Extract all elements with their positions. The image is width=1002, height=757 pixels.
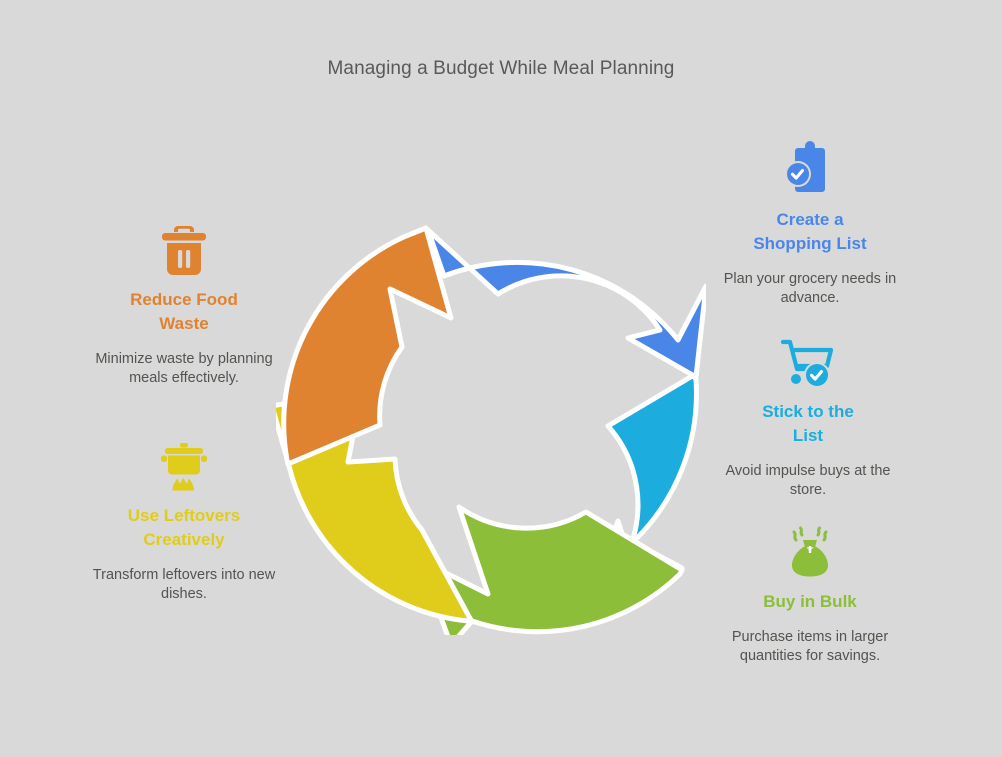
step-title: Create a Shopping List xyxy=(710,208,910,256)
step-title-line2: List xyxy=(793,426,823,445)
clipboard-check-icon xyxy=(710,134,910,196)
step-description: Avoid impulse buys at the store. xyxy=(708,462,908,499)
step-title-line1: Buy in Bulk xyxy=(763,592,857,611)
cycle-segment-reduce-food-waste xyxy=(284,228,451,464)
step-title: Reduce Food Waste xyxy=(84,288,284,336)
cycle-diagram xyxy=(276,190,706,640)
step-title-line1: Stick to the xyxy=(762,402,854,421)
step-description: Minimize waste by planning meals effecti… xyxy=(84,350,284,387)
step-title-line1: Use Leftovers xyxy=(128,506,240,525)
step-title: Stick to the List xyxy=(708,400,908,448)
step-buy-in-bulk: Buy in Bulk Purchase items in larger qua… xyxy=(710,516,910,665)
step-create-shopping-list: Create a Shopping List Plan your grocery… xyxy=(710,134,910,307)
step-use-leftovers-creatively: Use Leftovers Creatively Transform lefto… xyxy=(84,430,284,603)
cooking-pot-icon xyxy=(84,430,284,492)
trash-can-icon xyxy=(84,214,284,276)
step-description: Transform leftovers into new dishes. xyxy=(84,566,284,603)
step-title-line2: Shopping List xyxy=(753,234,866,253)
step-title-line2: Creatively xyxy=(143,530,224,549)
step-title: Buy in Bulk xyxy=(710,590,910,614)
step-reduce-food-waste: Reduce Food Waste Minimize waste by plan… xyxy=(84,214,284,387)
step-title-line1: Create a xyxy=(776,210,843,229)
step-title-line1: Reduce Food xyxy=(130,290,238,309)
cycle-segment-create-shopping-list xyxy=(428,230,706,377)
step-description: Plan your grocery needs in advance. xyxy=(710,270,910,307)
money-sack-icon xyxy=(710,516,910,578)
step-title: Use Leftovers Creatively xyxy=(84,504,284,552)
page-title: Managing a Budget While Meal Planning xyxy=(0,58,1002,80)
step-title-line2: Waste xyxy=(159,314,208,333)
step-description: Purchase items in larger quantities for … xyxy=(710,628,910,665)
step-stick-to-the-list: Stick to the List Avoid impulse buys at … xyxy=(708,326,908,499)
shopping-cart-check-icon xyxy=(708,326,908,388)
